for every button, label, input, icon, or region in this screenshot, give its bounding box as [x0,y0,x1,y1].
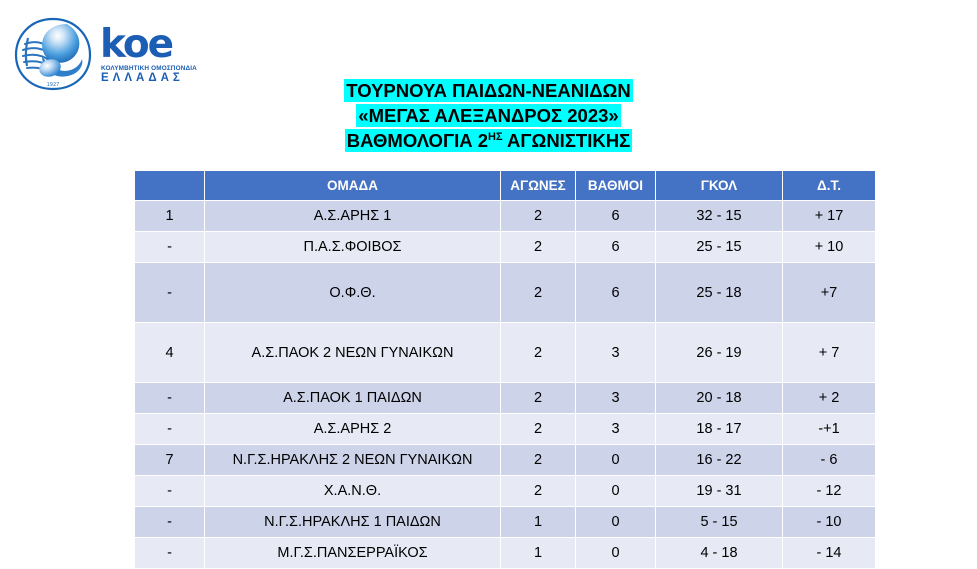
cell-points: 0 [576,445,656,476]
title-line-2-text: «ΜΕΓΑΣ ΑΛΕΞΑΝΔΡΟΣ 2023» [356,104,620,127]
cell-games: 2 [501,445,576,476]
table-row: 1Α.Σ.ΑΡΗΣ 12632 - 15+ 17 [135,201,876,232]
cell-rank: - [135,507,205,538]
cell-diff: - 12 [783,476,876,507]
title-line-3-superscript: ΗΣ [488,131,503,143]
title-line-3-before: ΒΑΘΜΟΛΟΓΙΑ 2 [347,130,488,151]
page-title: ΤΟΥΡΝΟΥΑ ΠΑΙΔΩΝ-ΝΕΑΝΙΔΩΝ «ΜΕΓΑΣ ΑΛΕΞΑΝΔΡ… [0,78,977,153]
cell-diff: -+1 [783,414,876,445]
koe-subtitle-line1: ΚΟΛΥΜΒΗΤΙΚΗ ΟΜΟΣΠΟΝΔΙΑ [101,65,212,72]
cell-diff: - 14 [783,538,876,569]
cell-team: Ν.Γ.Σ.ΗΡΑΚΛΗΣ 1 ΠΑΙΔΩΝ [205,507,501,538]
cell-team: Ο.Φ.Θ. [205,263,501,323]
cell-games: 2 [501,201,576,232]
cell-team: Π.Α.Σ.ΦΟΙΒΟΣ [205,232,501,263]
table-row: -Α.Σ.ΠΑΟΚ 1 ΠΑΙΔΩΝ2320 - 18+ 2 [135,383,876,414]
cell-goals: 5 - 15 [656,507,783,538]
cell-diff: + 7 [783,323,876,383]
cell-points: 0 [576,476,656,507]
cell-team: Α.Σ.ΠΑΟΚ 1 ΠΑΙΔΩΝ [205,383,501,414]
cell-goals: 18 - 17 [656,414,783,445]
cell-goals: 19 - 31 [656,476,783,507]
table-row: 7Ν.Γ.Σ.ΗΡΑΚΛΗΣ 2 ΝΕΩΝ ΓΥΝΑΙΚΩΝ2016 - 22-… [135,445,876,476]
title-line-3-text: ΒΑΘΜΟΛΟΓΙΑ 2ΗΣ ΑΓΩΝΙΣΤΙΚΗΣ [345,129,632,152]
table-row: -Χ.Α.Ν.Θ.2019 - 31- 12 [135,476,876,507]
cell-games: 2 [501,476,576,507]
cell-team: Α.Σ.ΠΑΟΚ 2 ΝΕΩΝ ΓΥΝΑΙΚΩΝ [205,323,501,383]
column-header-team: ΟΜΑΔΑ [205,171,501,201]
cell-points: 3 [576,414,656,445]
title-line-1-text: ΤΟΥΡΝΟΥΑ ΠΑΙΔΩΝ-ΝΕΑΝΙΔΩΝ [344,79,632,102]
title-line-1: ΤΟΥΡΝΟΥΑ ΠΑΙΔΩΝ-ΝΕΑΝΙΔΩΝ [0,78,977,103]
cell-games: 2 [501,414,576,445]
cell-points: 3 [576,323,656,383]
cell-diff: - 6 [783,445,876,476]
cell-points: 6 [576,263,656,323]
cell-goals: 16 - 22 [656,445,783,476]
cell-team: Α.Σ.ΑΡΗΣ 1 [205,201,501,232]
title-line-3: ΒΑΘΜΟΛΟΓΙΑ 2ΗΣ ΑΓΩΝΙΣΤΙΚΗΣ [0,128,977,153]
cell-points: 6 [576,232,656,263]
cell-goals: 4 - 18 [656,538,783,569]
column-header-rank [135,171,205,201]
cell-games: 1 [501,538,576,569]
cell-team: Χ.Α.Ν.Θ. [205,476,501,507]
cell-rank: - [135,476,205,507]
cell-points: 3 [576,383,656,414]
koe-wordmark-text: koe [100,26,212,64]
cell-points: 6 [576,201,656,232]
cell-rank: - [135,383,205,414]
table-row: -Μ.Γ.Σ.ΠΑΝΣΕΡΡΑΪΚΟΣ104 - 18- 14 [135,538,876,569]
standings-table: ΟΜΑΔΑ ΑΓΩΝΕΣ ΒΑΘΜΟΙ ΓΚΟΛ Δ.Τ. 1Α.Σ.ΑΡΗΣ … [134,170,876,569]
cell-team: Α.Σ.ΑΡΗΣ 2 [205,414,501,445]
cell-goals: 20 - 18 [656,383,783,414]
cell-team: Ν.Γ.Σ.ΗΡΑΚΛΗΣ 2 ΝΕΩΝ ΓΥΝΑΙΚΩΝ [205,445,501,476]
cell-rank: - [135,263,205,323]
title-line-3-after: ΑΓΩΝΙΣΤΙΚΗΣ [503,130,631,151]
cell-diff: + 2 [783,383,876,414]
column-header-games: ΑΓΩΝΕΣ [501,171,576,201]
cell-goals: 26 - 19 [656,323,783,383]
cell-games: 2 [501,232,576,263]
cell-points: 0 [576,507,656,538]
table-header-row: ΟΜΑΔΑ ΑΓΩΝΕΣ ΒΑΘΜΟΙ ΓΚΟΛ Δ.Τ. [135,171,876,201]
cell-rank: - [135,414,205,445]
cell-rank: - [135,538,205,569]
cell-rank: 4 [135,323,205,383]
cell-diff: + 17 [783,201,876,232]
cell-games: 2 [501,383,576,414]
cell-games: 1 [501,507,576,538]
title-line-2: «ΜΕΓΑΣ ΑΛΕΞΑΝΔΡΟΣ 2023» [0,103,977,128]
cell-goals: 25 - 18 [656,263,783,323]
column-header-goals: ΓΚΟΛ [656,171,783,201]
table-row: 4Α.Σ.ΠΑΟΚ 2 ΝΕΩΝ ΓΥΝΑΙΚΩΝ2326 - 19+ 7 [135,323,876,383]
table-row: -Π.Α.Σ.ΦΟΙΒΟΣ2625 - 15+ 10 [135,232,876,263]
column-header-diff: Δ.Τ. [783,171,876,201]
cell-team: Μ.Γ.Σ.ΠΑΝΣΕΡΡΑΪΚΟΣ [205,538,501,569]
cell-diff: - 10 [783,507,876,538]
cell-rank: - [135,232,205,263]
cell-diff: +7 [783,263,876,323]
cell-rank: 1 [135,201,205,232]
cell-goals: 32 - 15 [656,201,783,232]
cell-goals: 25 - 15 [656,232,783,263]
table-row: -Α.Σ.ΑΡΗΣ 22318 - 17-+1 [135,414,876,445]
cell-games: 2 [501,263,576,323]
cell-rank: 7 [135,445,205,476]
table-row: -Ο.Φ.Θ.2625 - 18+7 [135,263,876,323]
standings-body: 1Α.Σ.ΑΡΗΣ 12632 - 15+ 17-Π.Α.Σ.ΦΟΙΒΟΣ262… [135,201,876,569]
cell-diff: + 10 [783,232,876,263]
column-header-points: ΒΑΘΜΟΙ [576,171,656,201]
cell-games: 2 [501,323,576,383]
table-row: -Ν.Γ.Σ.ΗΡΑΚΛΗΣ 1 ΠΑΙΔΩΝ105 - 15- 10 [135,507,876,538]
cell-points: 0 [576,538,656,569]
